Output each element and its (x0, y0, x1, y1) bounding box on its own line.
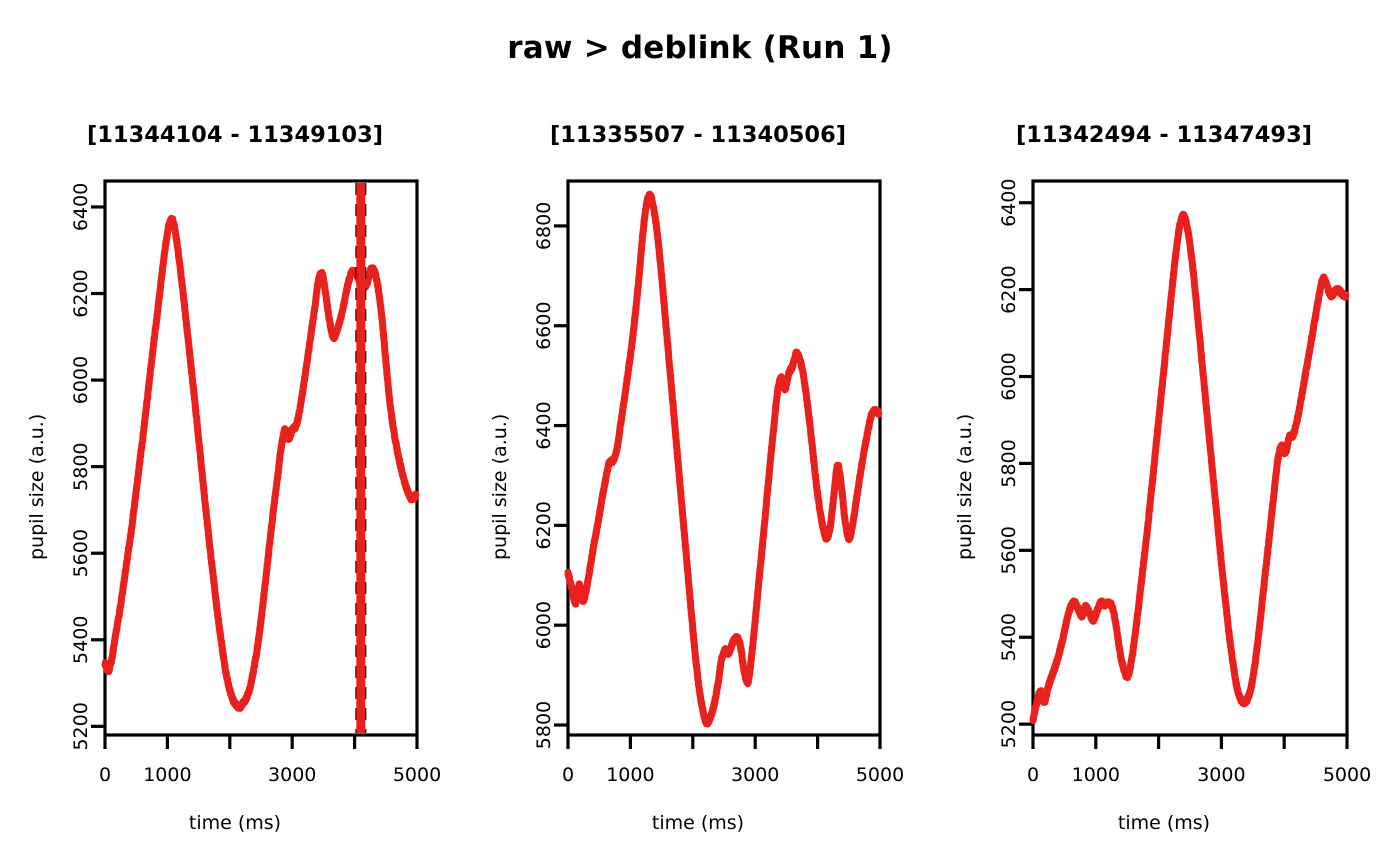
x-tick-label: 0 (562, 764, 574, 786)
pupil-trace-line (1033, 214, 1346, 720)
y-axis-label-1: pupil size (a.u.) (26, 414, 48, 560)
panel-title-1: [11344104 - 11349103] (0, 122, 470, 148)
figure-canvas: raw > deblink (Run 1) 010003000500052005… (0, 0, 1400, 866)
y-tick-label: 6400 (533, 401, 555, 449)
y-axis-label-2: pupil size (a.u.) (489, 414, 511, 560)
x-tick-label: 0 (1027, 764, 1039, 786)
y-tick-label: 5200 (70, 702, 92, 750)
chart-panel-1: 0100030005000520054005600580060006200640… (0, 0, 470, 866)
x-tick-label: 0 (99, 764, 111, 786)
y-tick-label: 6200 (70, 269, 92, 317)
y-tick-label: 5600 (70, 529, 92, 577)
y-tick-label: 5600 (998, 526, 1020, 574)
y-tick-label: 6400 (998, 179, 1020, 227)
y-tick-label: 6000 (70, 356, 92, 404)
x-tick-label: 5000 (393, 764, 441, 786)
y-tick-label: 6000 (998, 352, 1020, 400)
x-axis-label-3: time (ms) (928, 812, 1400, 834)
y-tick-label: 6200 (533, 501, 555, 549)
pupil-trace-line (105, 218, 416, 708)
panel-title-2: [11335507 - 11340506] (463, 122, 933, 148)
x-tick-label: 3000 (268, 764, 316, 786)
y-tick-label: 5200 (998, 700, 1020, 748)
y-axis-label-3: pupil size (a.u.) (954, 414, 976, 560)
panel-title-3: [11342494 - 11347493] (928, 122, 1400, 148)
x-tick-label: 1000 (606, 764, 654, 786)
y-tick-label: 5800 (70, 442, 92, 490)
y-tick-label: 6600 (533, 302, 555, 350)
y-tick-label: 6000 (533, 601, 555, 649)
x-axis-label-1: time (ms) (0, 812, 470, 834)
axis-box (105, 181, 417, 735)
x-tick-label: 5000 (1323, 764, 1371, 786)
y-tick-label: 6400 (70, 183, 92, 231)
x-tick-label: 3000 (1197, 764, 1245, 786)
y-tick-label: 5400 (998, 613, 1020, 661)
x-tick-label: 5000 (856, 764, 904, 786)
x-axis-label-2: time (ms) (463, 812, 933, 834)
y-tick-label: 5800 (998, 439, 1020, 487)
y-tick-label: 5800 (533, 701, 555, 749)
pupil-trace-line (568, 194, 879, 724)
chart-panel-3: 0100030005000520054005600580060006200640… (928, 0, 1400, 866)
y-tick-label: 6200 (998, 265, 1020, 313)
y-tick-label: 6800 (533, 202, 555, 250)
y-tick-label: 5400 (70, 616, 92, 664)
x-tick-label: 1000 (143, 764, 191, 786)
x-tick-label: 1000 (1072, 764, 1120, 786)
x-tick-label: 3000 (731, 764, 779, 786)
chart-panel-2: 0100030005000580060006200640066006800 [1… (463, 0, 933, 866)
